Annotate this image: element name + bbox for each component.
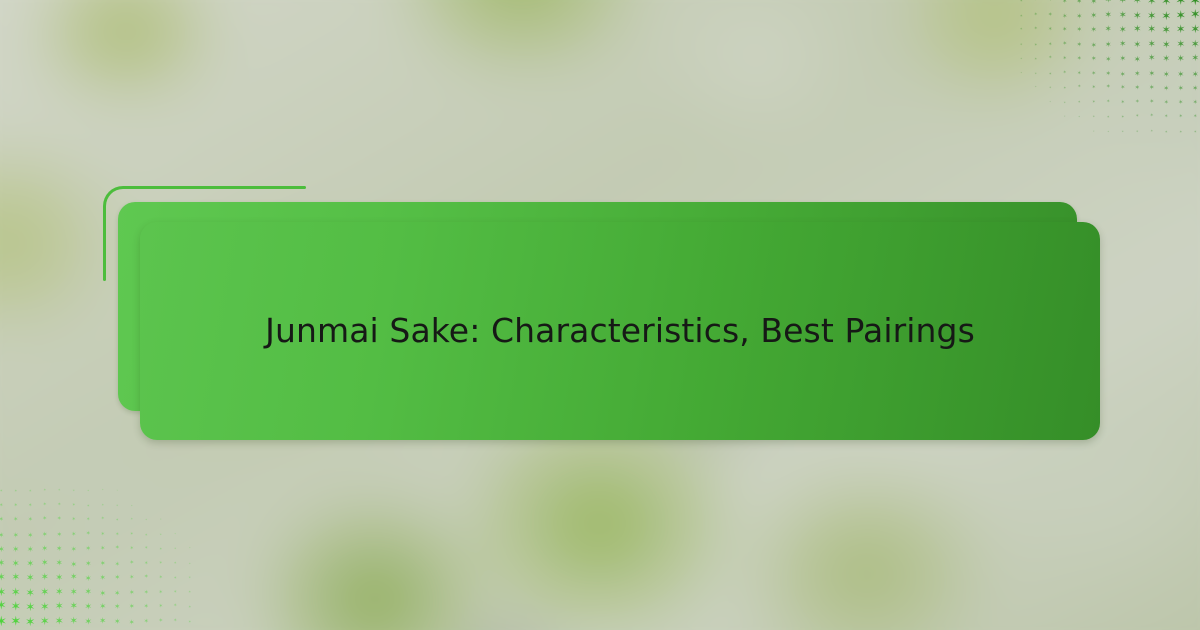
card-stack: Junmai Sake: Characteristics, Best Pairi… (0, 0, 1200, 630)
page-title: Junmai Sake: Characteristics, Best Pairi… (265, 310, 975, 351)
title-card: Junmai Sake: Characteristics, Best Pairi… (140, 222, 1100, 440)
og-image-canvas: ✶✶✶✶✶✶✶✶✶✶✶✶✶✶✶✶✶✶✶✶✶✶✶✶✶✶✶✶✶✶✶✶✶✶✶✶✶✶✶✶… (0, 0, 1200, 630)
